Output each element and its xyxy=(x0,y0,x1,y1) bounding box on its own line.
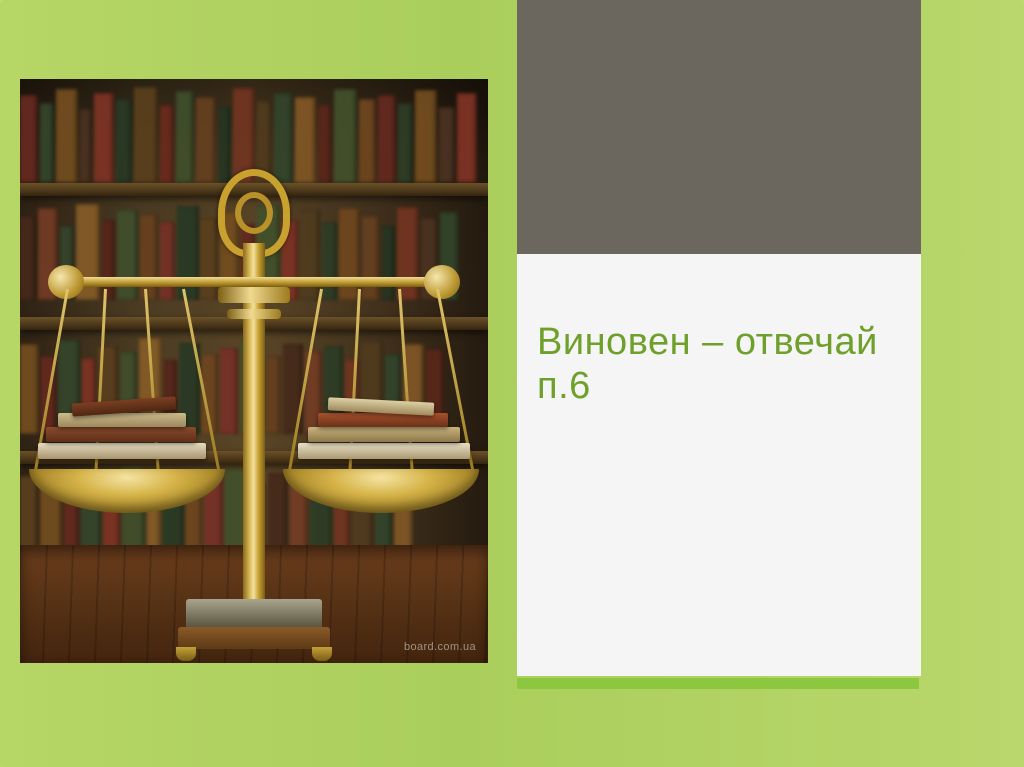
books-on-right-pan xyxy=(286,397,476,471)
scale-foot xyxy=(312,647,332,661)
scale-base-plinth xyxy=(178,627,330,649)
bookshelf-background: board.com.ua xyxy=(20,79,488,663)
scale-beam xyxy=(60,277,448,287)
scales-of-justice xyxy=(44,169,464,663)
gray-placeholder-block xyxy=(517,0,921,254)
accent-bar xyxy=(517,678,919,689)
scale-pan-right xyxy=(283,469,479,513)
title-area: Виновен – отвечай п.6 xyxy=(517,254,921,676)
slide-title: Виновен – отвечай п.6 xyxy=(537,320,907,408)
slide-image: board.com.ua xyxy=(20,79,488,663)
scale-collar xyxy=(227,309,281,319)
image-watermark: board.com.ua xyxy=(404,641,476,653)
books-on-left-pan xyxy=(32,397,222,471)
scale-collar xyxy=(218,287,290,303)
scale-foot xyxy=(176,647,196,661)
scale-pan-left xyxy=(29,469,225,513)
content-panel: Виновен – отвечай п.6 xyxy=(517,0,921,676)
slide: board.com.ua Виновен – отвечай п.6 xyxy=(0,0,1024,767)
book-row xyxy=(20,79,488,183)
